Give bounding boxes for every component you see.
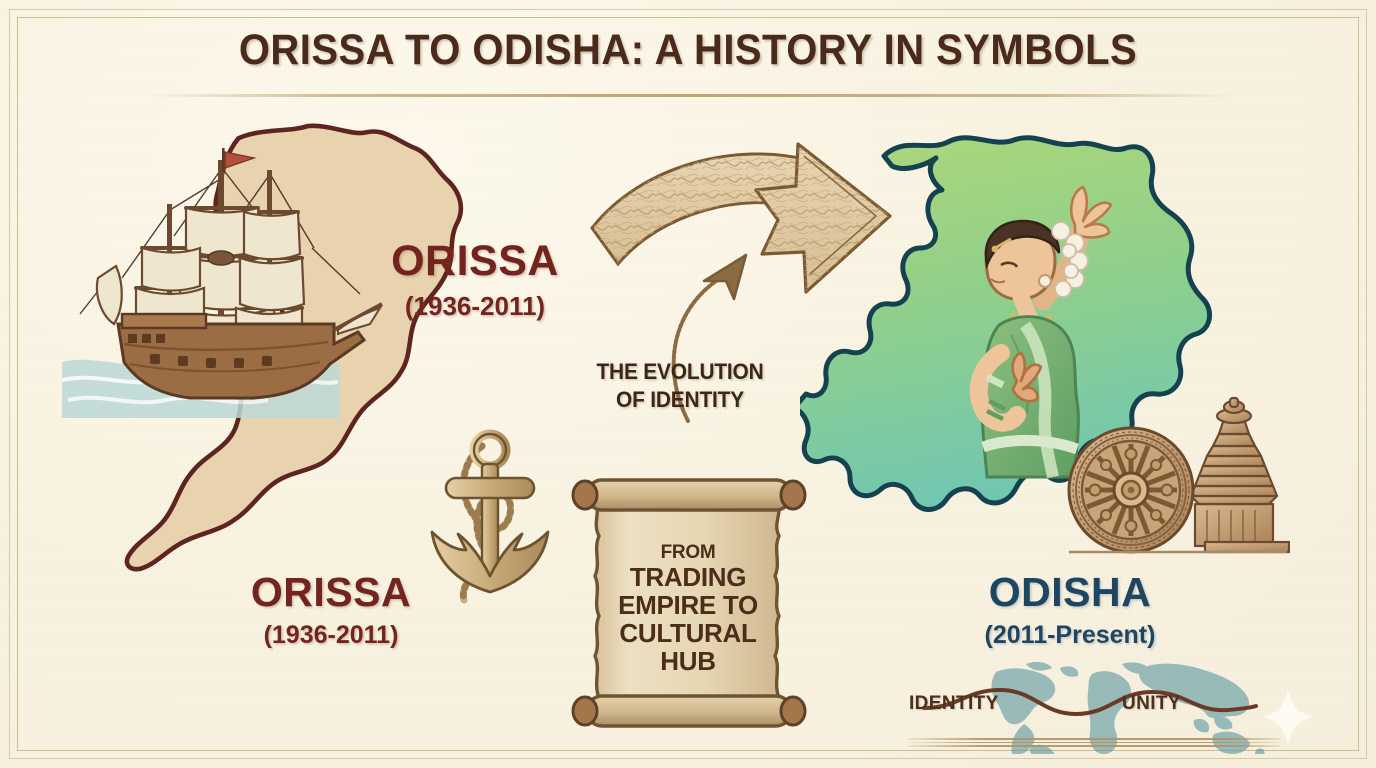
odisha-label: ODISHA (2011-Present) xyxy=(930,572,1210,648)
orissa-map-label-name: ORISSA xyxy=(340,240,610,283)
orissa-map-label-years: (1936-2011) xyxy=(340,293,610,319)
footer-label-unity: UNITY xyxy=(1122,693,1181,715)
konark-temple-icon xyxy=(1191,398,1277,546)
center-caption-line2: OF IDENTITY xyxy=(571,386,790,414)
odisha-label-name: ODISHA xyxy=(930,572,1210,613)
footer-divider-rules xyxy=(908,738,1280,746)
center-caption: THE EVOLUTION OF IDENTITY xyxy=(571,358,790,414)
sparkle-star-icon xyxy=(1262,688,1314,746)
scroll-parchment-icon: FROM TRADING EMPIRE TO CULTURAL HUB xyxy=(563,470,813,748)
odisha-label-years: (2011-Present) xyxy=(930,623,1210,648)
title-divider xyxy=(145,94,1235,97)
footer-band: IDENTITY UNITY xyxy=(900,666,1300,762)
footer-label-identity: IDENTITY xyxy=(909,693,999,715)
konark-sun-temple-group xyxy=(1055,392,1290,567)
center-caption-line1: THE EVOLUTION xyxy=(571,358,790,386)
orissa-bottom-label-name: ORISSA xyxy=(196,572,466,613)
orissa-bottom-label: ORISSA (1936-2011) xyxy=(196,572,466,648)
konark-sun-temple-wheel-icon xyxy=(1069,428,1193,552)
orissa-bottom-label-years: (1936-2011) xyxy=(196,623,466,648)
infographic-poster: ORISSA TO ODISHA: A HISTORY IN SYMBOLS xyxy=(0,0,1376,768)
page-title: ORISSA TO ODISHA: A HISTORY IN SYMBOLS xyxy=(48,26,1328,75)
orissa-map-label: ORISSA (1936-2011) xyxy=(340,240,610,319)
